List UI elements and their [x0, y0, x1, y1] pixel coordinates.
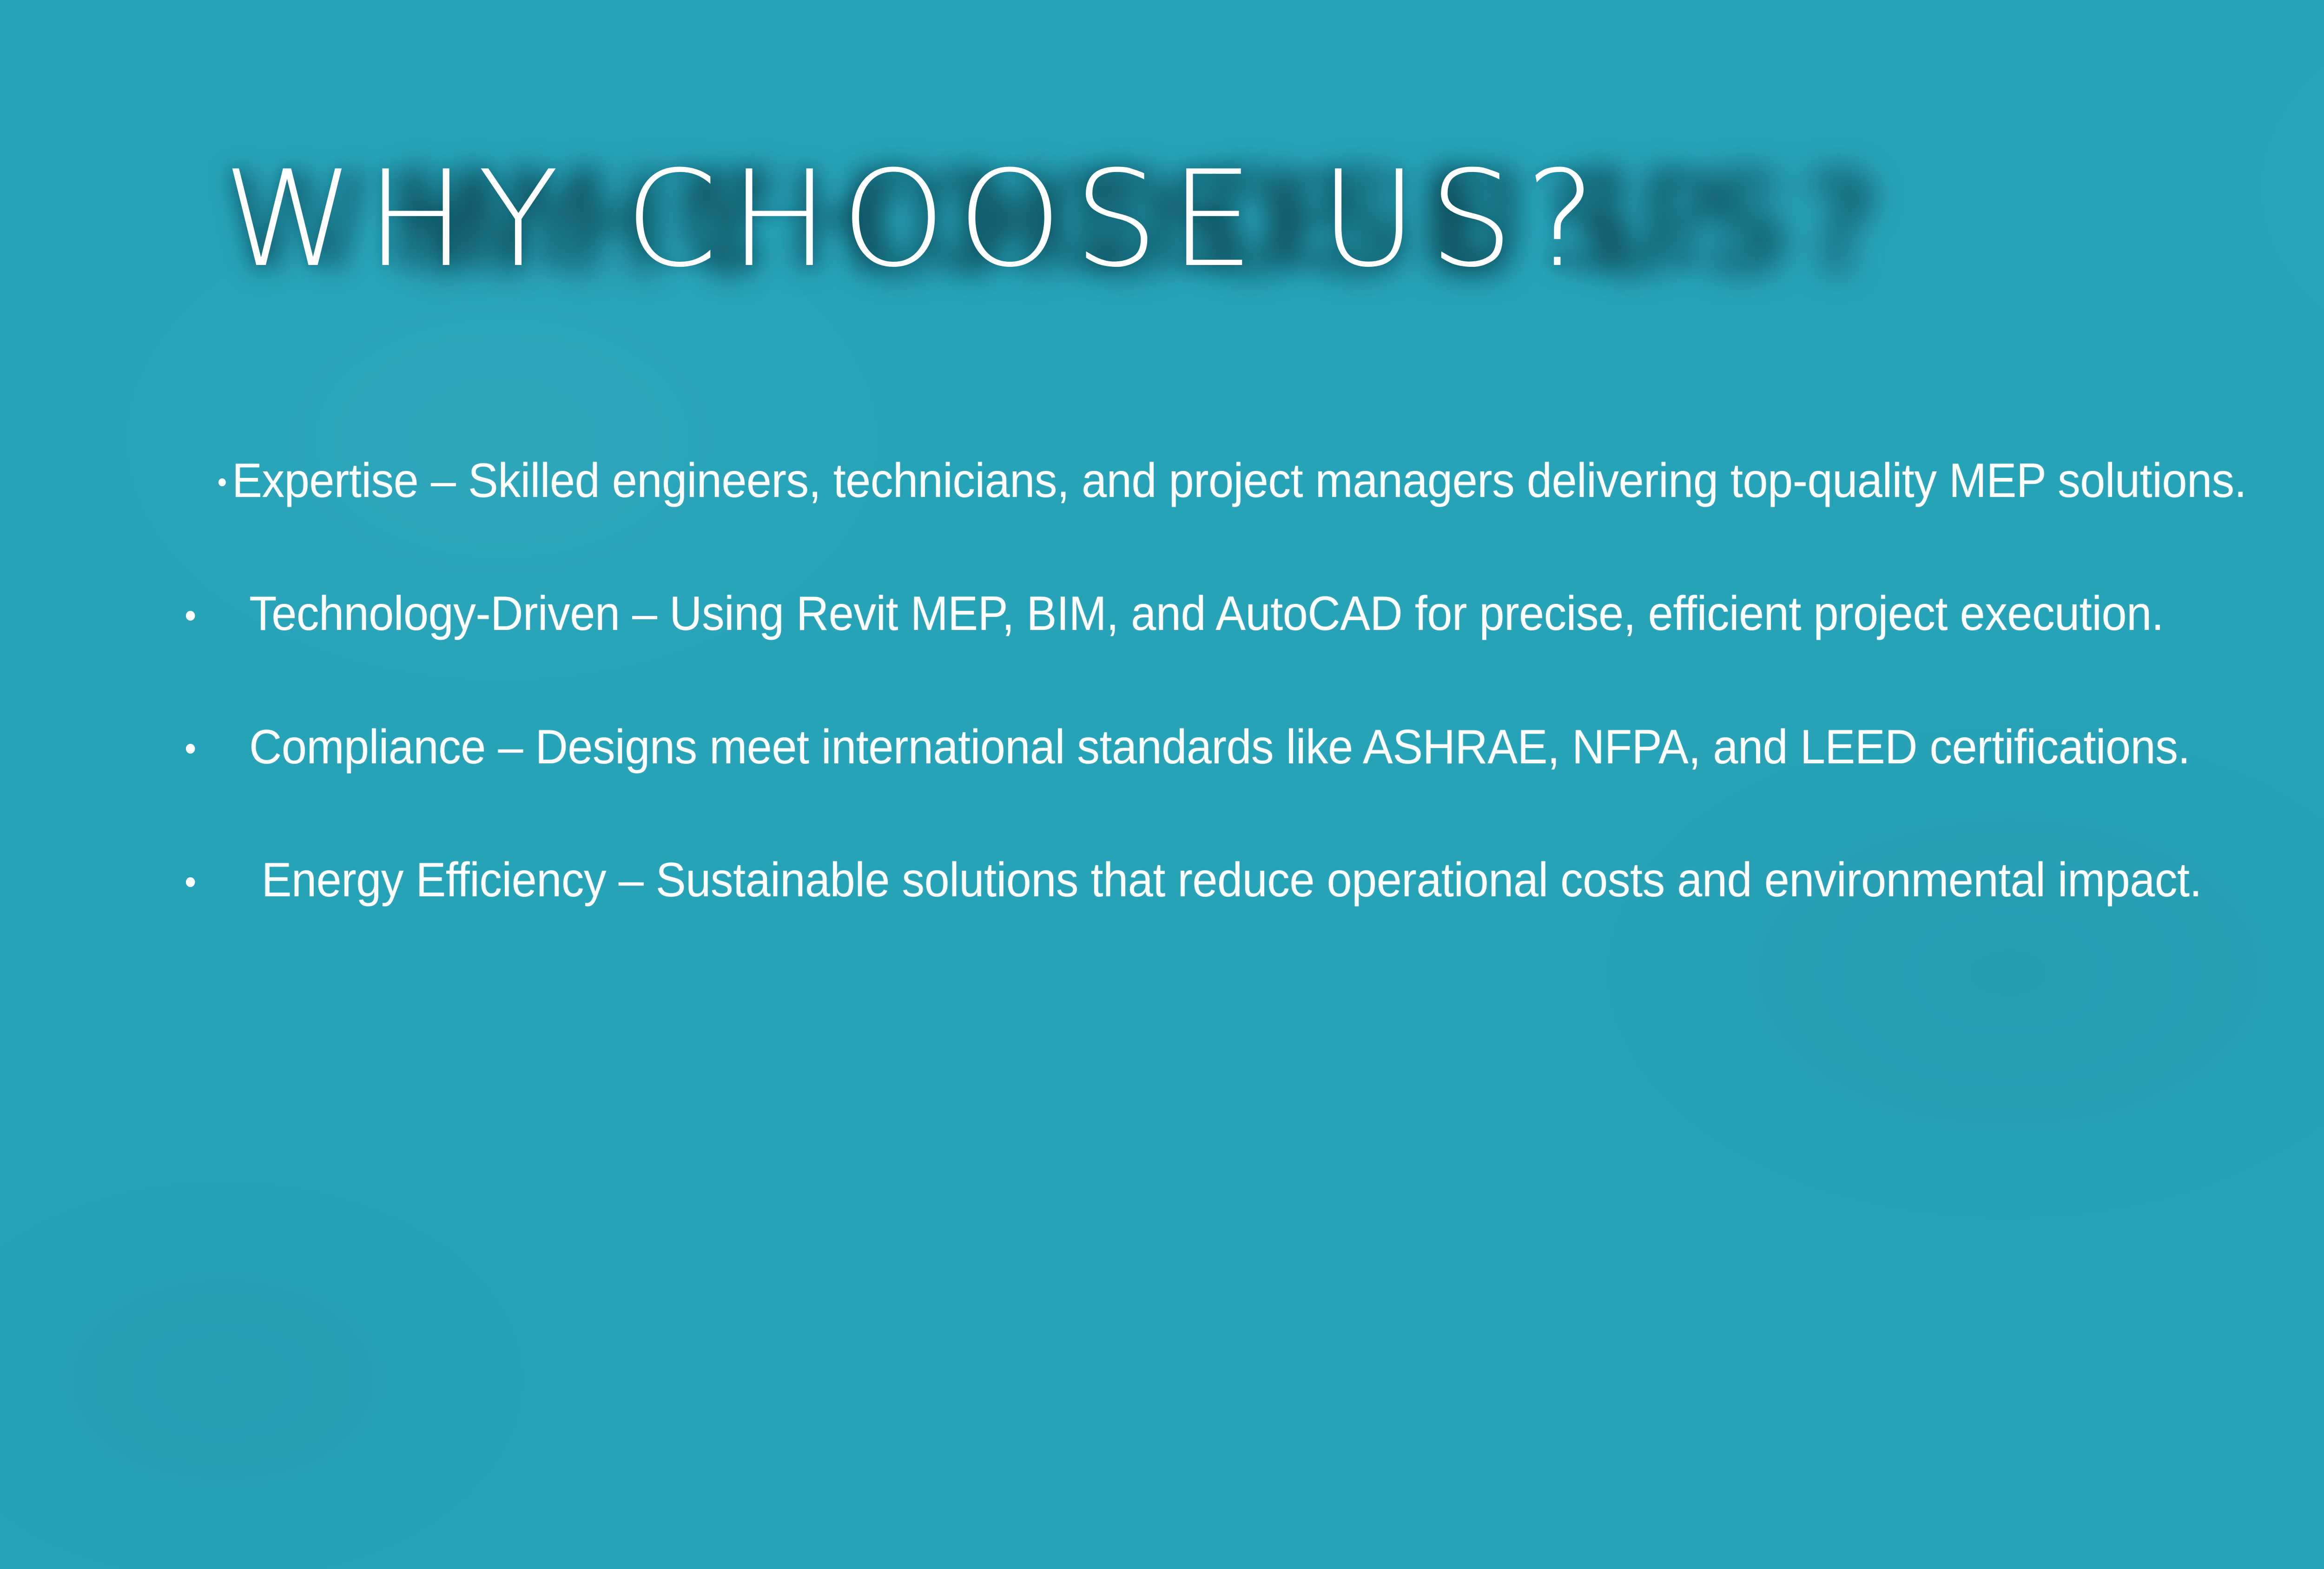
list-item-text: Energy Efficiency – Sustainable solution…: [249, 853, 2202, 907]
bullet-point-icon: [218, 442, 232, 520]
page-title: WHY CHOOSE US?: [223, 153, 1608, 286]
list-item-text: Technology-Driven – Using Revit MEP, BIM…: [249, 587, 2164, 641]
bullet-list: Expertise – Skilled engineers, technicia…: [218, 442, 2324, 920]
list-item: Compliance – Designs meet international …: [218, 708, 2324, 786]
list-item-text: Expertise – Skilled engineers, technicia…: [232, 454, 2246, 508]
list-item: Technology-Driven – Using Revit MEP, BIM…: [218, 575, 2324, 653]
slide-title-block: WHY CHOOSE US? WHY CHOOSE US? WHY CHOOSE…: [223, 153, 2324, 349]
slide-canvas: WHY CHOOSE US? WHY CHOOSE US? WHY CHOOSE…: [0, 0, 2324, 1569]
bullet-point-icon: [218, 841, 249, 919]
list-item: Energy Efficiency – Sustainable solution…: [218, 841, 2324, 919]
list-item: Expertise – Skilled engineers, technicia…: [218, 442, 2324, 520]
bullet-point-icon: [218, 708, 249, 786]
bullet-point-icon: [218, 575, 249, 653]
list-item-text: Compliance – Designs meet international …: [249, 720, 2190, 774]
